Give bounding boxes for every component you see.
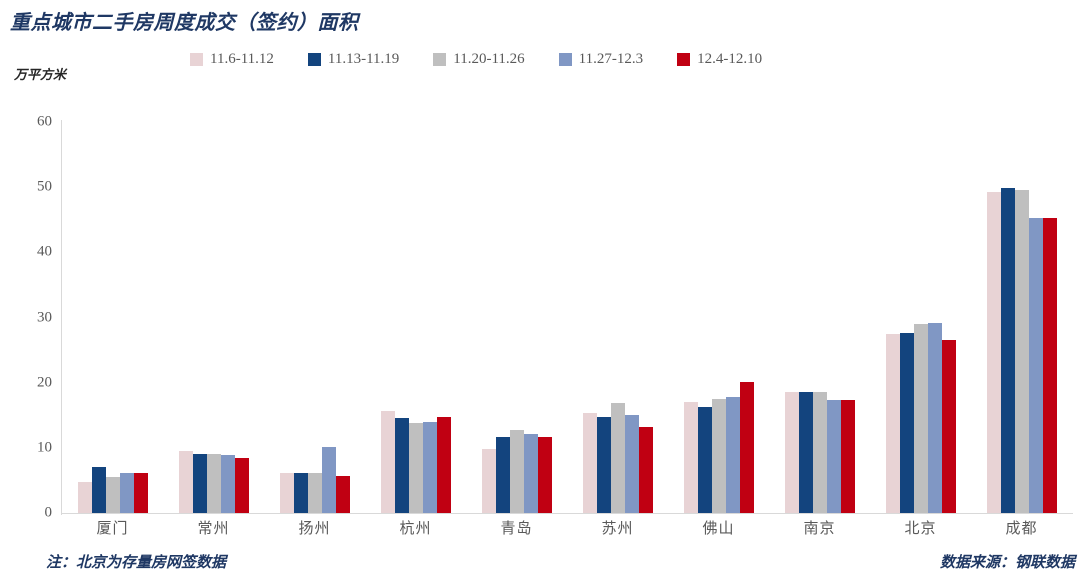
bar[interactable] <box>1015 190 1029 513</box>
legend-item[interactable]: 11.27-12.3 <box>559 51 643 68</box>
bar-group: 成都 <box>971 122 1072 513</box>
bar[interactable] <box>785 392 799 513</box>
legend-item-label: 11.6-11.12 <box>210 51 274 68</box>
x-axis-tick-label: 常州 <box>163 517 264 538</box>
bar[interactable] <box>120 473 134 513</box>
bar[interactable] <box>92 467 106 513</box>
bar[interactable] <box>1029 218 1043 513</box>
bar[interactable] <box>827 400 841 513</box>
legend-swatch-icon <box>677 53 690 66</box>
y-axis-tick-label: 50 <box>10 179 52 196</box>
bar[interactable] <box>684 402 698 513</box>
bar[interactable] <box>409 423 423 513</box>
y-axis-unit-label: 万平方米 <box>14 64 66 83</box>
bar[interactable] <box>336 476 350 513</box>
bar[interactable] <box>482 449 496 514</box>
bar[interactable] <box>639 427 653 513</box>
legend-item[interactable]: 11.20-11.26 <box>433 51 524 68</box>
legend-swatch-icon <box>190 53 203 66</box>
legend-item-label: 11.13-11.19 <box>328 51 399 68</box>
bar-group: 佛山 <box>668 122 769 513</box>
bar[interactable] <box>207 454 221 513</box>
bar[interactable] <box>395 418 409 513</box>
bar[interactable] <box>987 192 1001 513</box>
y-axis-tick-label: 10 <box>10 439 52 456</box>
bar-group: 扬州 <box>264 122 365 513</box>
x-axis-tick-label: 北京 <box>870 517 971 538</box>
bar[interactable] <box>712 399 726 513</box>
bar-group: 厦门 <box>62 122 163 513</box>
page-title: 重点城市二手房周度成交（签约）面积 <box>10 6 359 35</box>
x-axis-tick-label: 青岛 <box>466 517 567 538</box>
x-axis-tick-label: 南京 <box>769 517 870 538</box>
x-axis-tick-label: 扬州 <box>264 517 365 538</box>
legend-swatch-icon <box>308 53 321 66</box>
bar[interactable] <box>900 333 914 513</box>
bar[interactable] <box>106 477 120 513</box>
x-axis-tick-label: 厦门 <box>62 517 163 538</box>
bar[interactable] <box>813 392 827 513</box>
bar-group: 常州 <box>163 122 264 513</box>
legend-item-label: 11.27-12.3 <box>579 51 643 68</box>
x-axis-tick-label: 佛山 <box>668 517 769 538</box>
legend-item[interactable]: 11.6-11.12 <box>190 51 274 68</box>
bar-group: 青岛 <box>466 122 567 513</box>
bar-group: 苏州 <box>567 122 668 513</box>
chart-legend: 11.6-11.1211.13-11.1911.20-11.2611.27-12… <box>190 48 762 70</box>
y-axis-tick-label: 20 <box>10 374 52 391</box>
bar[interactable] <box>193 454 207 513</box>
bar-group: 杭州 <box>365 122 466 513</box>
bar[interactable] <box>914 324 928 513</box>
bar[interactable] <box>625 415 639 513</box>
bar[interactable] <box>437 417 451 513</box>
bar[interactable] <box>698 407 712 513</box>
legend-swatch-icon <box>433 53 446 66</box>
bar[interactable] <box>597 417 611 513</box>
y-axis-tick-label: 0 <box>10 505 52 522</box>
bar[interactable] <box>1001 188 1015 513</box>
y-axis-tick-labels: 6050403020100 <box>8 122 52 513</box>
x-axis-tick-label: 杭州 <box>365 517 466 538</box>
bar-groups: 厦门常州扬州杭州青岛苏州佛山南京北京成都 <box>62 122 1072 513</box>
bar[interactable] <box>78 482 92 513</box>
footer-note: 注：北京为存量房网签数据 <box>46 551 226 572</box>
x-axis-tick-label: 成都 <box>971 517 1072 538</box>
bar[interactable] <box>510 430 524 513</box>
bar[interactable] <box>235 458 249 513</box>
legend-item-label: 11.20-11.26 <box>453 51 524 68</box>
bar[interactable] <box>524 434 538 514</box>
bar[interactable] <box>221 455 235 513</box>
bar[interactable] <box>726 397 740 513</box>
bar[interactable] <box>928 323 942 513</box>
bar[interactable] <box>1043 218 1057 513</box>
bar-group: 北京 <box>870 122 971 513</box>
footer-source: 数据来源：钢联数据 <box>940 551 1075 572</box>
legend-item-label: 12.4-12.10 <box>697 51 762 68</box>
y-axis-tick-label: 40 <box>10 244 52 261</box>
y-axis-tick-label: 30 <box>10 309 52 326</box>
bar-group: 南京 <box>769 122 870 513</box>
x-axis-line <box>61 513 1073 514</box>
bar[interactable] <box>841 400 855 513</box>
bar[interactable] <box>322 447 336 513</box>
bar[interactable] <box>280 473 294 513</box>
bar[interactable] <box>308 473 322 513</box>
bar[interactable] <box>381 411 395 513</box>
bar[interactable] <box>799 392 813 513</box>
bar[interactable] <box>583 413 597 513</box>
bar[interactable] <box>179 451 193 513</box>
bar[interactable] <box>740 382 754 513</box>
legend-item[interactable]: 12.4-12.10 <box>677 51 762 68</box>
bar[interactable] <box>942 340 956 513</box>
bar[interactable] <box>886 334 900 513</box>
legend-swatch-icon <box>559 53 572 66</box>
bar[interactable] <box>134 473 148 513</box>
legend-item[interactable]: 11.13-11.19 <box>308 51 399 68</box>
y-axis-tick-label: 60 <box>10 114 52 131</box>
bar[interactable] <box>611 403 625 513</box>
bar[interactable] <box>294 473 308 513</box>
bar[interactable] <box>496 437 510 513</box>
x-axis-tick-label: 苏州 <box>567 517 668 538</box>
bar[interactable] <box>423 422 437 513</box>
bar[interactable] <box>538 437 552 513</box>
